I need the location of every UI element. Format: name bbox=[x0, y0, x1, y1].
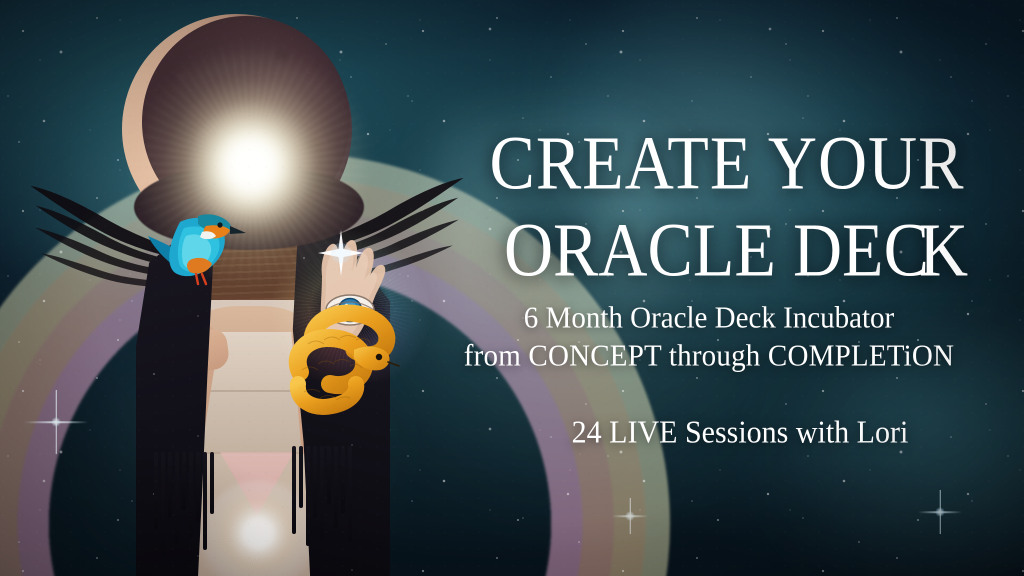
headline-line-2: ORACLE DECK bbox=[462, 215, 1000, 285]
oracle-deck-promo-banner: CREATE YOUR ORACLE DECK 6 Month Oracle D… bbox=[0, 0, 1024, 576]
cloak-fringe-right bbox=[292, 446, 352, 546]
central-figure-collage bbox=[96, 0, 456, 576]
headline-line-1: CREATE YOUR bbox=[454, 128, 1000, 198]
headline-line-2-main: ORACLE DE bbox=[504, 207, 884, 292]
starburst-icon bbox=[318, 230, 364, 276]
tagline: 24 LIVE Sessions with Lori bbox=[480, 415, 1000, 451]
subtitle-line-2: from CONCEPT through COMPLETiON bbox=[418, 339, 1000, 375]
kingfisher-bird-icon bbox=[140, 192, 248, 296]
subtitle: 6 Month Oracle Deck Incubator from CONCE… bbox=[418, 301, 1000, 374]
subtitle-line-1: 6 Month Oracle Deck Incubator bbox=[524, 301, 894, 335]
headline-ck-ligature: CK bbox=[884, 207, 958, 292]
golden-snake-icon bbox=[278, 300, 402, 420]
banner-copy: CREATE YOUR ORACLE DECK 6 Month Oracle D… bbox=[418, 128, 1000, 488]
cloak-fringe-left bbox=[154, 452, 214, 556]
